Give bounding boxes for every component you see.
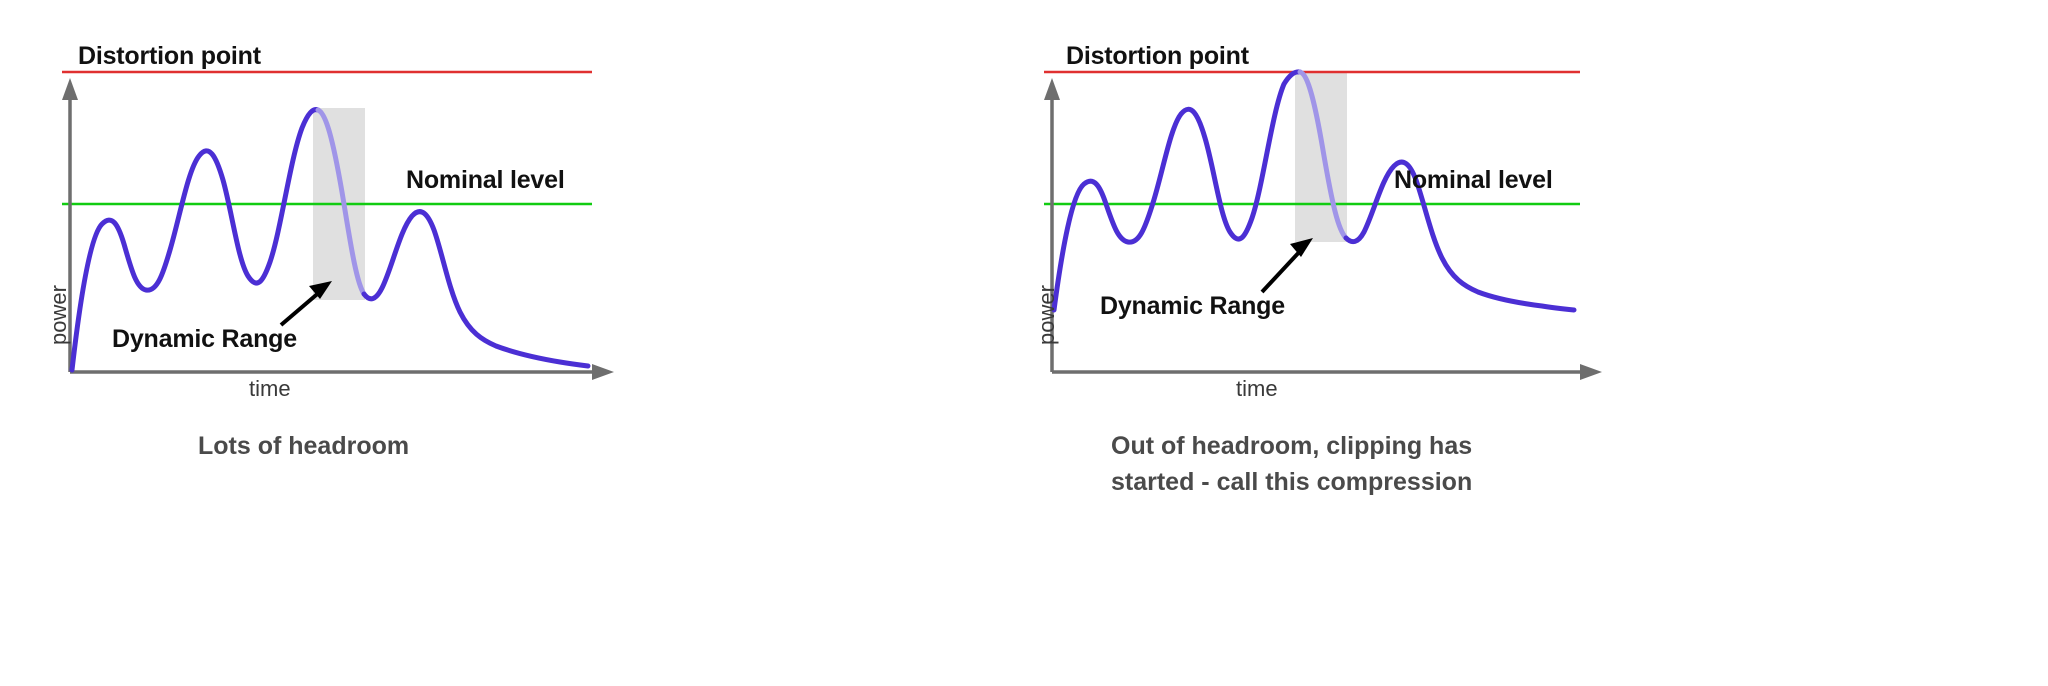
dynamic-range-arrow	[281, 281, 332, 325]
figure-canvas: Distortion point Nominal level Dynamic R…	[0, 0, 2048, 686]
dynamic-range-label: Dynamic Range	[1100, 292, 1285, 321]
nominal-level-label: Nominal level	[1394, 166, 1553, 195]
waveform-signal	[1054, 72, 1300, 310]
panel-caption-out-of-headroom: Out of headroom, clipping has started - …	[1111, 428, 1531, 500]
dynamic-range-label: Dynamic Range	[112, 325, 297, 354]
x-axis	[1052, 364, 1602, 380]
distortion-point-label: Distortion point	[78, 42, 261, 71]
panel-out-of-headroom: Distortion point Nominal level Dynamic R…	[1024, 0, 2048, 686]
y-axis-label-power: power	[1034, 285, 1060, 345]
x-axis	[70, 364, 614, 380]
x-axis-label-time: time	[249, 376, 291, 402]
nominal-level-label: Nominal level	[406, 166, 565, 195]
waveform-signal-tail	[364, 212, 588, 366]
distortion-point-label: Distortion point	[1066, 42, 1249, 71]
dynamic-range-arrow	[1262, 238, 1313, 292]
panel-lots-of-headroom: Distortion point Nominal level Dynamic R…	[0, 0, 1024, 686]
x-axis-label-time: time	[1236, 376, 1278, 402]
y-axis-label-power: power	[46, 285, 72, 345]
panel-caption-lots-of-headroom: Lots of headroom	[198, 428, 618, 464]
right-panel-graphic	[1024, 0, 2048, 686]
dynamic-range-band	[1295, 72, 1347, 242]
